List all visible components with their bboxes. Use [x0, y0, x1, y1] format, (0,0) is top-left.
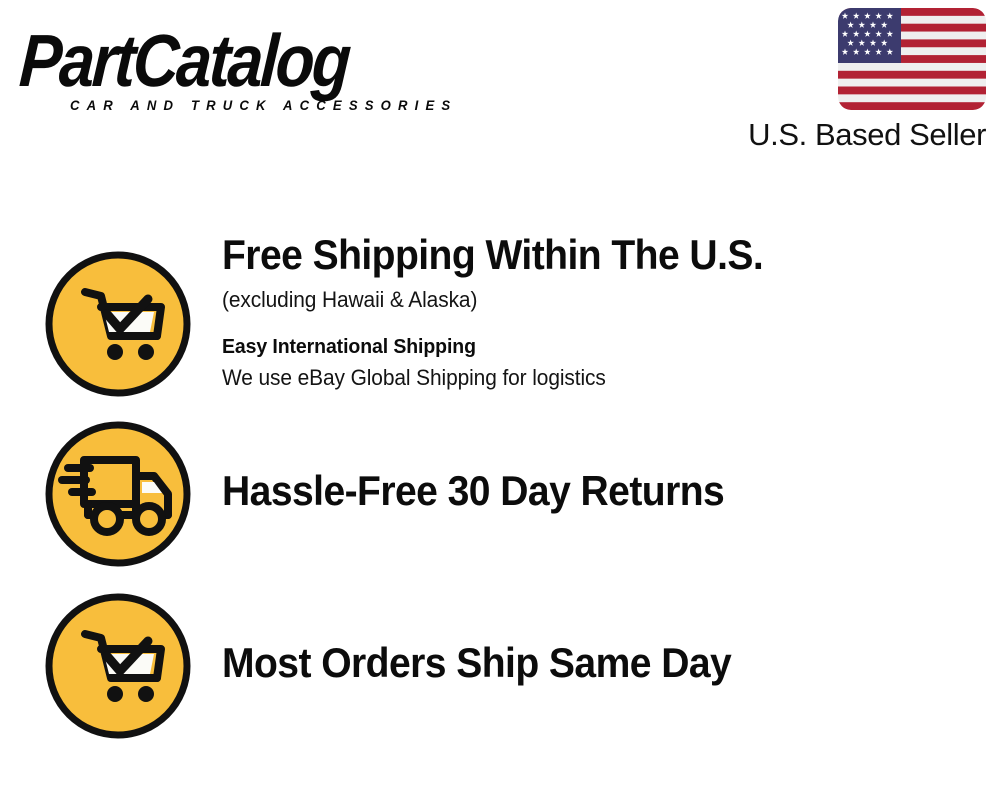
us-flag-icon: [838, 8, 986, 110]
us-based-seller-badge: U.S. Based Seller: [726, 8, 986, 152]
feature-text-free-shipping: Free Shipping Within The U.S. (excluding…: [222, 230, 962, 393]
feature-subline-international-title: Easy International Shipping: [222, 332, 925, 362]
cart-check-icon: [44, 250, 192, 398]
feature-headline: Most Orders Ship Same Day: [222, 640, 910, 686]
delivery-truck-icon: [44, 420, 192, 568]
cart-check-icon: [44, 592, 192, 740]
brand-tagline: CAR AND TRUCK ACCESSORIES: [70, 98, 457, 113]
feature-subline-international-detail: We use eBay Global Shipping for logistic…: [222, 363, 925, 393]
feature-text-returns: Hassle-Free 30 Day Returns: [222, 468, 962, 514]
feature-subline-exclusions: (excluding Hawaii & Alaska): [222, 285, 925, 315]
brand-wordmark: PartCatalog: [18, 24, 427, 98]
brand-logo[interactable]: PartCatalog CAR AND TRUCK ACCESSORIES: [22, 24, 492, 116]
us-based-seller-label: U.S. Based Seller: [726, 118, 986, 152]
feature-text-same-day: Most Orders Ship Same Day: [222, 640, 962, 686]
feature-headline: Hassle-Free 30 Day Returns: [222, 468, 910, 514]
feature-headline: Free Shipping Within The U.S.: [222, 232, 910, 278]
